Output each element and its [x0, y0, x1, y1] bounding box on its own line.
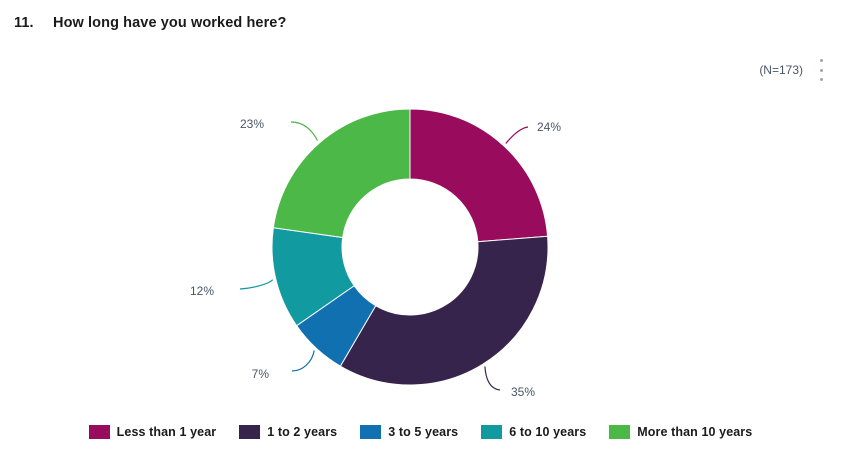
slice-value-label-2: 7% — [252, 367, 270, 381]
slice-value-label-4: 23% — [240, 117, 264, 131]
kebab-dot-3 — [820, 78, 823, 81]
chart-legend: Less than 1 year 1 to 2 years 3 to 5 yea… — [0, 425, 841, 439]
donut-slices — [272, 109, 548, 385]
legend-label-1: 1 to 2 years — [267, 425, 337, 439]
donut-slice-0[interactable] — [410, 109, 548, 242]
kebab-dot-2 — [820, 69, 823, 72]
donut-value-labels: 24%35%7%12%23% — [190, 117, 561, 399]
leader-line-0 — [506, 127, 528, 144]
legend-item-0[interactable]: Less than 1 year — [89, 425, 217, 439]
kebab-menu-icon[interactable] — [814, 58, 828, 82]
legend-swatch-icon-3 — [481, 425, 502, 439]
question-title: How long have you worked here? — [53, 15, 286, 31]
donut-slice-4[interactable] — [273, 109, 410, 238]
legend-item-2[interactable]: 3 to 5 years — [360, 425, 458, 439]
slice-value-label-1: 35% — [511, 385, 535, 399]
sample-size-label: (N=173) — [759, 63, 803, 77]
legend-label-2: 3 to 5 years — [388, 425, 458, 439]
donut-chart-svg: 24%35%7%12%23% — [0, 0, 841, 420]
question-header: 11. How long have you worked here? — [0, 0, 841, 52]
donut-chart: 24%35%7%12%23% — [0, 0, 841, 466]
legend-label-4: More than 10 years — [637, 425, 752, 439]
legend-swatch-icon-4 — [609, 425, 630, 439]
legend-swatch-icon-1 — [239, 425, 260, 439]
donut-slice-2[interactable] — [297, 286, 376, 366]
question-number: 11. — [14, 15, 34, 31]
leader-line-2 — [292, 351, 314, 372]
legend-swatch-icon-0 — [89, 425, 110, 439]
slice-value-label-3: 12% — [190, 284, 214, 298]
leader-line-1 — [485, 367, 500, 391]
legend-item-4[interactable]: More than 10 years — [609, 425, 752, 439]
slice-value-label-0: 24% — [537, 120, 561, 134]
legend-label-3: 6 to 10 years — [509, 425, 586, 439]
donut-leader-lines — [240, 122, 528, 390]
legend-label-0: Less than 1 year — [117, 425, 217, 439]
kebab-dot-1 — [820, 59, 823, 62]
donut-slice-1[interactable] — [340, 236, 548, 385]
donut-slice-3[interactable] — [272, 228, 354, 326]
legend-swatch-icon-2 — [360, 425, 381, 439]
leader-line-4 — [291, 122, 318, 141]
legend-item-3[interactable]: 6 to 10 years — [481, 425, 586, 439]
leader-line-3 — [240, 280, 273, 289]
legend-item-1[interactable]: 1 to 2 years — [239, 425, 337, 439]
